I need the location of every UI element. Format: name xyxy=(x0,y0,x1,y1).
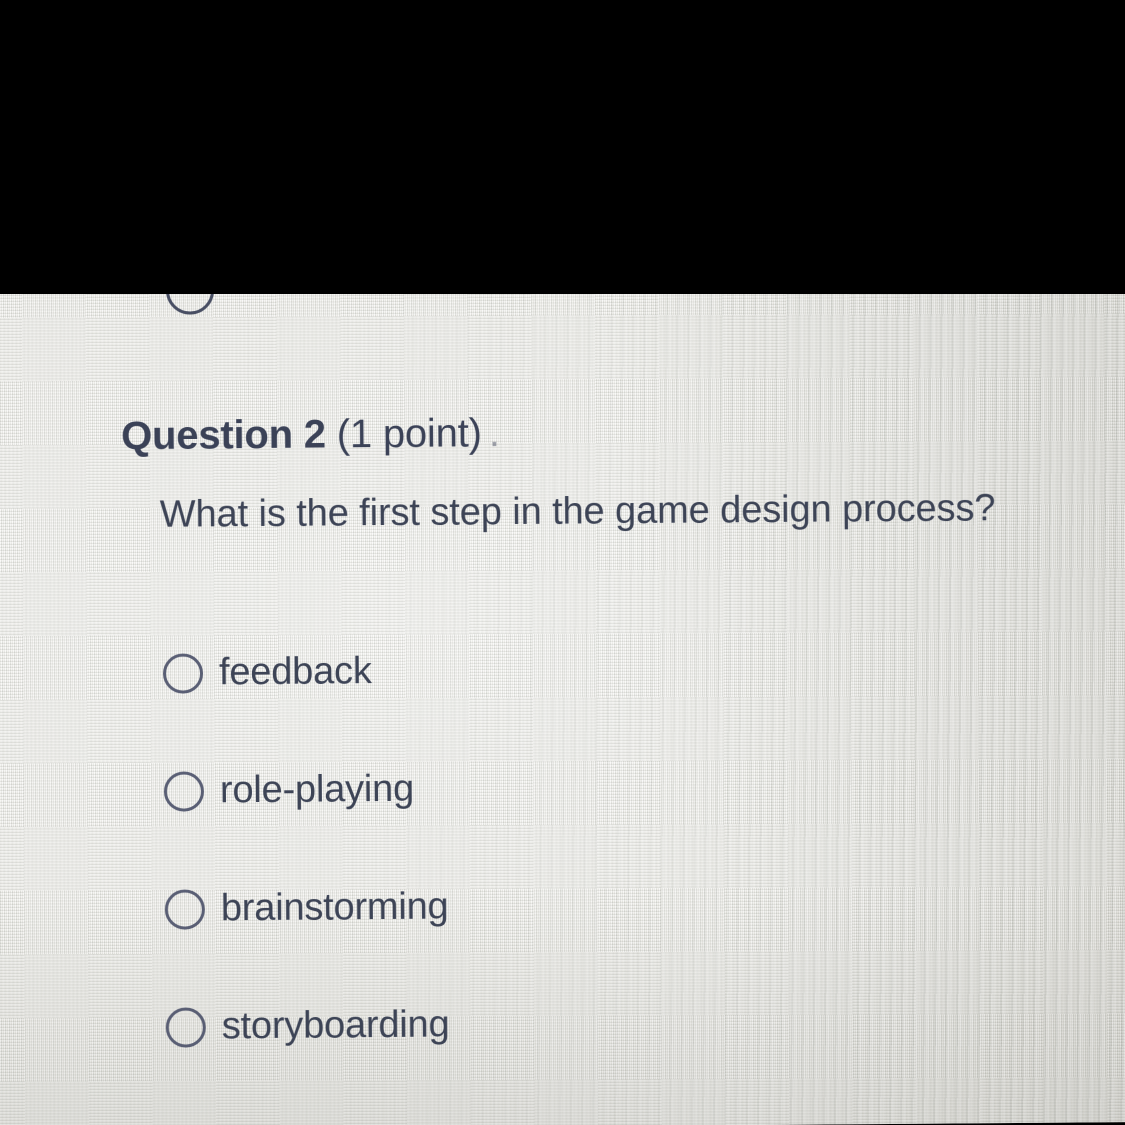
radio-button-icon[interactable] xyxy=(165,889,205,929)
radio-button-icon[interactable] xyxy=(166,1007,206,1047)
answer-option-role-playing[interactable]: role-playing xyxy=(163,726,1044,851)
screenshot-root: Question 2 (1 point). What is the first … xyxy=(0,0,1125,1125)
answer-option-label: role-playing xyxy=(220,770,414,812)
answer-option-label: feedback xyxy=(219,652,372,693)
question-number-label: Question 2 xyxy=(121,412,326,458)
quiz-content: Question 2 (1 point). What is the first … xyxy=(0,281,1125,1125)
answer-option-brainstorming[interactable]: brainstorming xyxy=(164,844,1045,969)
question-trailing-mark: . xyxy=(482,411,500,455)
answer-option-feedback[interactable]: feedback xyxy=(163,608,1044,733)
answer-option-storyboarding[interactable]: storyboarding xyxy=(165,962,1046,1087)
letterbox-bar-top xyxy=(0,0,1125,294)
radio-button-icon[interactable] xyxy=(164,771,204,811)
answer-option-label: storyboarding xyxy=(222,1005,450,1047)
radio-button-icon[interactable] xyxy=(163,653,203,693)
answer-options-list: feedback role-playing brainstorming stor… xyxy=(163,608,1047,1087)
answer-option-label: brainstorming xyxy=(221,887,449,929)
question-header: Question 2 (1 point). xyxy=(121,411,500,459)
question-points-label: (1 point) xyxy=(337,411,482,456)
question-prompt: What is the first step in the game desig… xyxy=(160,487,996,537)
